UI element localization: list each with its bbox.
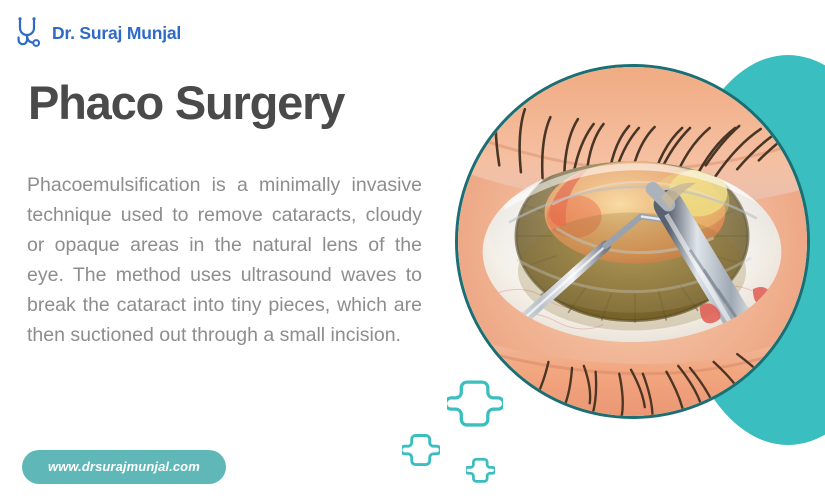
- website-url-badge[interactable]: www.drsurajmunjal.com: [22, 450, 226, 484]
- page-title: Phaco Surgery: [28, 78, 344, 127]
- description-paragraph: Phacoemulsification is a minimally invas…: [27, 170, 422, 350]
- plus-medium-icon: [402, 430, 440, 468]
- plus-large-icon: [447, 374, 503, 430]
- eye-surgery-image: [455, 64, 810, 419]
- poster-canvas: Dr. Suraj Munjal Phaco Surgery Phacoemul…: [0, 0, 825, 500]
- plus-small-icon: [466, 455, 495, 484]
- brand-name-label: Dr. Suraj Munjal: [52, 23, 181, 44]
- brand-logo[interactable]: Dr. Suraj Munjal: [14, 16, 181, 50]
- stethoscope-icon: [14, 16, 44, 50]
